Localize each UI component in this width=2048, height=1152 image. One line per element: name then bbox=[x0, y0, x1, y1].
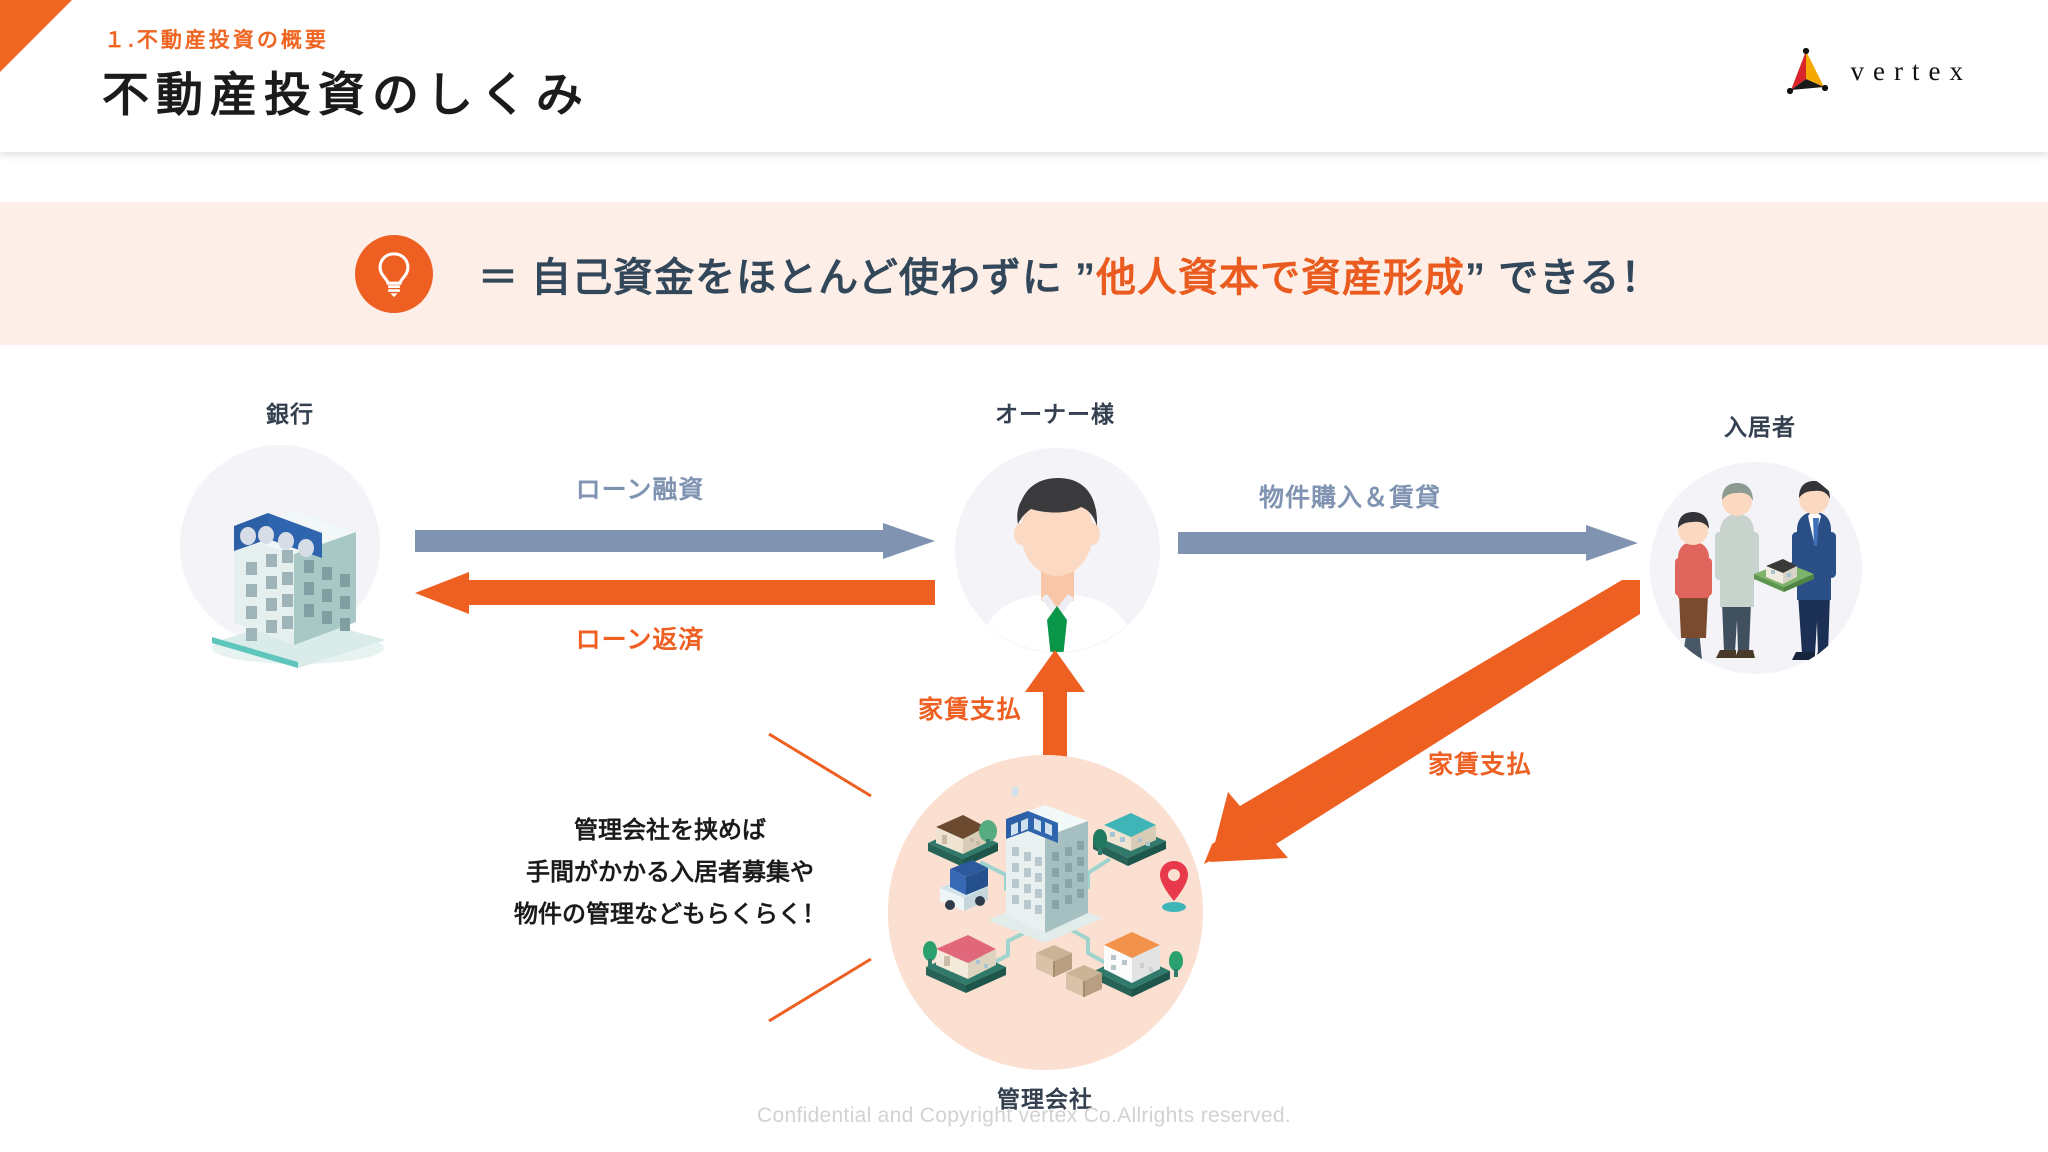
owner-person-icon bbox=[955, 448, 1160, 658]
lightbulb-icon bbox=[355, 235, 433, 313]
flow-label-loan-financing: ローン融資 bbox=[530, 470, 750, 506]
section-eyebrow: １.不動産投資の概要 bbox=[104, 24, 329, 54]
flow-label-rent-to-management: 家賃支払 bbox=[1390, 745, 1570, 781]
vertex-pyramid-icon bbox=[1779, 46, 1835, 96]
management-city-icon bbox=[888, 755, 1203, 1070]
page-title: 不動産投資のしくみ bbox=[102, 56, 590, 125]
slide: １.不動産投資の概要 不動産投資のしくみ vertex ＝ bbox=[0, 0, 2048, 1152]
key-message-suffix: ” できる！ bbox=[1465, 256, 1661, 300]
arrow-purchase-and-lease bbox=[1178, 525, 1638, 561]
arrow-loan-repayment bbox=[415, 572, 935, 614]
arrow-loan-financing bbox=[415, 523, 935, 559]
caption-bracket-bottom bbox=[765, 955, 875, 1025]
caption-line-2: 手間がかかる入居者募集や bbox=[470, 852, 870, 894]
key-message-prefix: ＝ 自己資金をほとんど使わずに ” bbox=[478, 256, 1096, 300]
node-label-owner: オーナー様 bbox=[965, 395, 1145, 429]
node-label-tenants: 入居者 bbox=[1670, 408, 1850, 442]
caption-line-3: 物件の管理などもらくらく！ bbox=[470, 894, 870, 936]
caption-line-1: 管理会社を挟めば bbox=[470, 810, 870, 852]
flow-label-loan-repayment: ローン返済 bbox=[530, 620, 750, 656]
management-caption: 管理会社を挟めば 手間がかかる入居者募集や 物件の管理などもらくらく！ bbox=[470, 810, 870, 936]
footer-copyright: Confidential and Copyright vertex Co.All… bbox=[0, 1104, 2048, 1128]
key-message-banner: ＝ 自己資金をほとんど使わずに ”他人資本で資産形成” できる！ bbox=[0, 202, 2048, 345]
bank-building-icon bbox=[190, 440, 400, 670]
caption-bracket-top bbox=[765, 730, 875, 800]
arrow-rent-to-management bbox=[1190, 580, 1640, 870]
investment-flow-diagram: 銀行 bbox=[0, 0, 2048, 1152]
key-message-highlight: 他人資本で資産形成 bbox=[1096, 256, 1465, 300]
corner-accent-triangle bbox=[0, 0, 72, 72]
key-message-text: ＝ 自己資金をほとんど使わずに ”他人資本で資産形成” できる！ bbox=[478, 245, 1661, 303]
flow-label-purchase-and-lease: 物件購入＆賃貸 bbox=[1190, 478, 1510, 514]
node-label-bank: 銀行 bbox=[210, 395, 370, 429]
brand-logo: vertex bbox=[1779, 46, 1972, 96]
brand-logo-text: vertex bbox=[1851, 56, 1972, 87]
tenant-people-icon bbox=[1650, 462, 1862, 677]
slide-header: １.不動産投資の概要 不動産投資のしくみ vertex bbox=[0, 0, 2048, 152]
